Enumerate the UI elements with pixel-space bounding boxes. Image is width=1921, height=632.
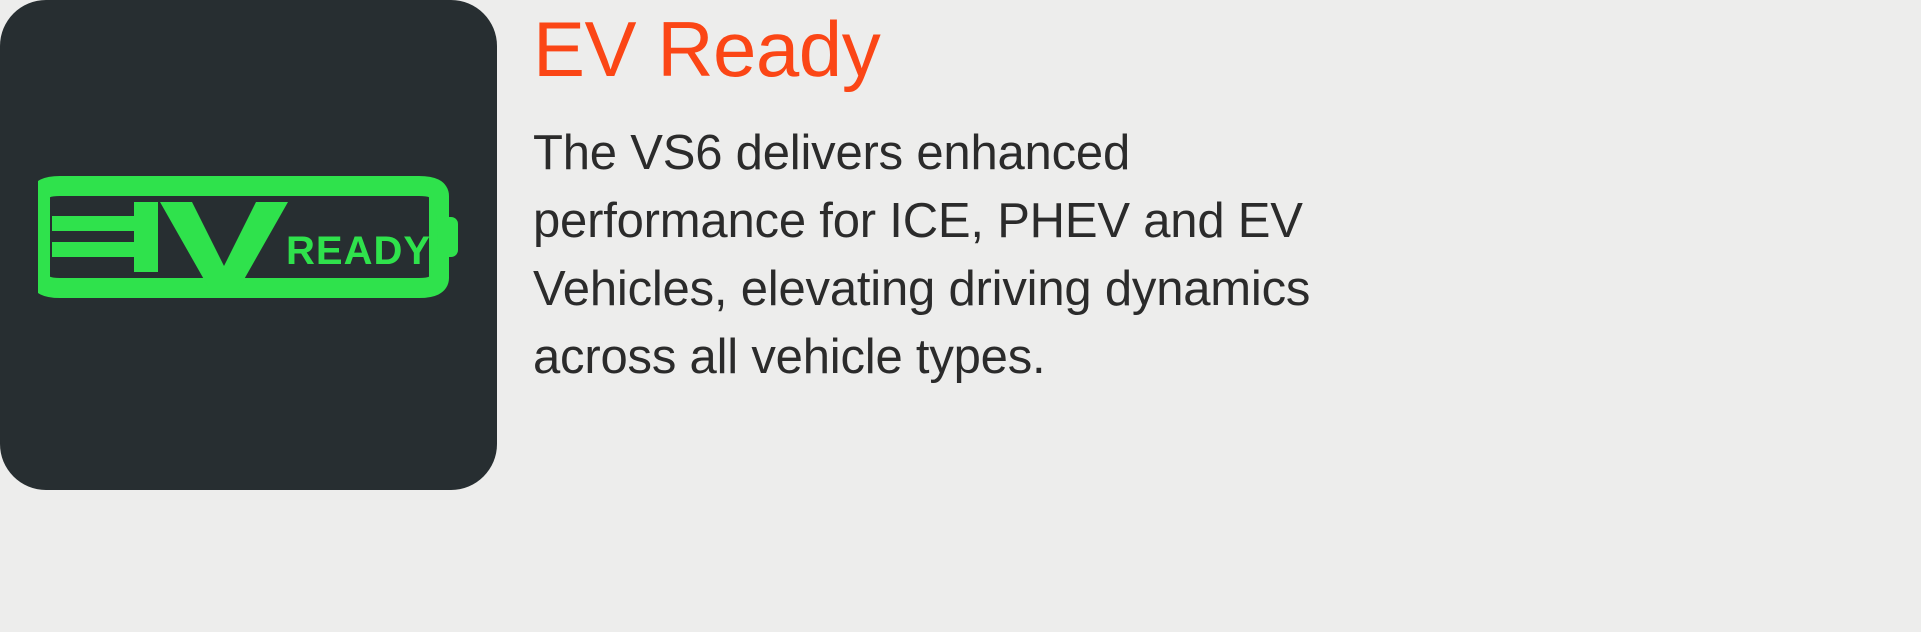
card-title: EV Ready	[533, 0, 1873, 98]
logo-ready-text: READY	[286, 229, 431, 273]
description-line-2: performance for ICE, PHEV and EV	[533, 187, 1393, 255]
speed-line-top	[52, 216, 148, 231]
card-description: The VS6 delivers enhanced performance fo…	[533, 119, 1393, 391]
ev-ready-feature-card: READY EV Ready The VS6 delivers enhanced…	[0, 0, 1921, 632]
ev-ready-icon-tile: READY	[0, 0, 497, 490]
description-line-3: Vehicles, elevating driving dynamics	[533, 255, 1393, 323]
speed-line-middle	[52, 242, 148, 257]
battery-terminal	[438, 217, 458, 257]
letter-v	[160, 202, 288, 290]
description-line-4: across all vehicle types.	[533, 323, 1393, 391]
letter-e-stem	[134, 202, 158, 272]
description-line-1: The VS6 delivers enhanced	[533, 119, 1393, 187]
ev-ready-text-column: EV Ready The VS6 delivers enhanced perfo…	[533, 0, 1873, 391]
ev-ready-battery-logo-icon: READY	[38, 172, 458, 302]
